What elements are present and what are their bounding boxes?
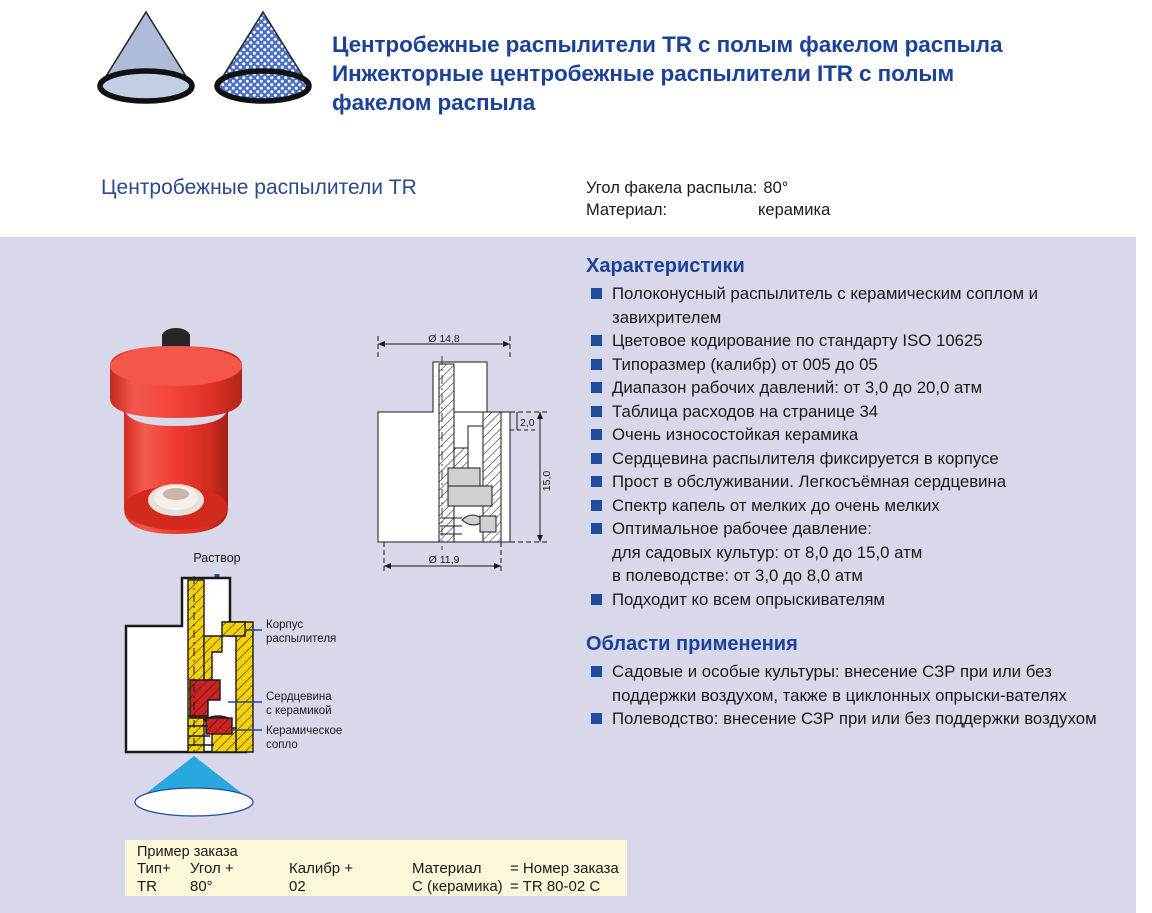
application-item-label: Садовые и особые культуры: внесение СЗР … <box>612 662 1067 705</box>
spray-pattern-icons <box>88 6 320 118</box>
bullet-square-icon <box>591 359 602 370</box>
hollow-cone-icon <box>100 12 192 101</box>
label-inlet: Раствор <box>193 551 240 565</box>
feature-item-label: Спектр капель от мелких до очень мелких <box>612 496 940 515</box>
feature-item-label: Цветовое кодирование по стандарту ISO 10… <box>612 331 983 350</box>
cutaway-diagram: Раствор Корпус распылите <box>110 540 390 840</box>
dim-outer-diameter: Ø 14,8 <box>428 333 460 345</box>
feature-item: Диапазон рабочих давлений: от 3,0 до 20,… <box>586 376 1106 400</box>
label-nozzle-line2: сопло <box>266 739 298 751</box>
order-col-angle-label: Угол + <box>190 860 234 878</box>
spray-angle-row: Угол факела распыла: 80° <box>586 177 830 199</box>
bullet-square-icon <box>591 476 602 487</box>
label-body-line1: Корпус <box>266 619 303 631</box>
order-col-number-label: = Номер заказа <box>510 860 619 878</box>
feature-item: Очень износостойкая керамика <box>586 423 1106 447</box>
application-item: Полеводство: внесение СЗР при или без по… <box>586 707 1106 731</box>
feature-item: Сердцевина распылителя фиксируется в кор… <box>586 447 1106 471</box>
applications-list: Садовые и особые культуры: внесение СЗР … <box>586 660 1106 731</box>
specifications-column: Характеристики Полоконусный распылитель … <box>586 253 1106 731</box>
bullet-square-icon <box>591 382 602 393</box>
label-body-line2: распылителя <box>266 633 336 645</box>
section-subtitle: Центробежные распылители TR <box>101 174 417 202</box>
bullet-square-icon <box>591 406 602 417</box>
order-col-number-value: = TR 80-02 С <box>510 878 600 896</box>
label-core-line2: с керамикой <box>266 705 332 717</box>
feature-item-label: Прост в обслуживании. Легкосъёмная сердц… <box>612 472 1006 491</box>
page-title: Центробежные распылители TR с полым факе… <box>332 30 1122 117</box>
order-col-material-value: С (керамика) <box>412 878 503 896</box>
feature-item-label: Типоразмер (калибр) от 005 до 05 <box>612 355 878 374</box>
title-line-1: Центробежные распылители TR с полым факе… <box>332 30 1122 59</box>
page-header: Центробежные распылители TR с полым факе… <box>0 0 1152 237</box>
feature-item: Полоконусный распылитель с керамическим … <box>586 282 1106 329</box>
clipped-bottom-text <box>108 903 508 913</box>
feature-item: Цветовое кодирование по стандарту ISO 10… <box>586 329 1106 353</box>
bullet-square-icon <box>591 453 602 464</box>
order-example-box: Пример заказа Тип+ Угол + Калибр + Матер… <box>125 840 627 896</box>
material-row: Материал: керамика <box>586 199 830 221</box>
order-col-type-value: TR <box>137 878 157 896</box>
bullet-square-icon <box>591 429 602 440</box>
order-col-type-label: Тип+ <box>137 860 171 878</box>
spec-summary: Угол факела распыла: 80° Материал: керам… <box>586 177 830 221</box>
spray-angle-value: 80° <box>763 177 788 199</box>
feature-item-label: Полоконусный распылитель с керамическим … <box>612 284 1038 327</box>
applications-heading: Области применения <box>586 631 1106 657</box>
speckled-cone-icon <box>217 12 309 101</box>
spray-angle-label: Угол факела распыла: <box>586 177 757 199</box>
bullet-square-icon <box>591 666 602 677</box>
bullet-square-icon <box>591 288 602 299</box>
feature-item-subline: в полеводстве: от 3,0 до 8,0 атм <box>612 564 1106 588</box>
feature-item-label: Оптимальное рабочее давление: <box>612 519 872 538</box>
feature-item-label: Подходит ко всем опрыскивателям <box>612 590 885 609</box>
technical-cross-section-drawing: Ø 14,8 Ø 11,9 15,0 2,0 <box>370 330 575 580</box>
order-col-material-label: Материал <box>412 860 482 878</box>
material-value: керамика <box>758 199 830 221</box>
feature-item: Спектр капель от мелких до очень мелких <box>586 494 1106 518</box>
bullet-square-icon <box>591 594 602 605</box>
bullet-square-icon <box>591 523 602 534</box>
title-line-2: Инжекторные центробежные распылители ITR… <box>332 59 1122 88</box>
label-core-line1: Сердцевина <box>266 691 332 703</box>
bullet-square-icon <box>591 335 602 346</box>
feature-item: Типоразмер (калибр) от 005 до 05 <box>586 353 1106 377</box>
order-col-size-label: Калибр + <box>289 860 353 878</box>
order-example-title: Пример заказа <box>137 843 238 861</box>
dim-flange: 2,0 <box>520 417 535 429</box>
application-item: Садовые и особые культуры: внесение СЗР … <box>586 660 1106 707</box>
feature-item-label: Диапазон рабочих давлений: от 3,0 до 20,… <box>612 378 982 397</box>
bullet-square-icon <box>591 713 602 724</box>
feature-item-label: Очень износостойкая керамика <box>612 425 858 444</box>
feature-item: Оптимальное рабочее давление:для садовых… <box>586 517 1106 588</box>
features-heading: Характеристики <box>586 253 1106 279</box>
order-col-angle-value: 80° <box>190 878 213 896</box>
label-nozzle-line1: Керамическое <box>266 725 342 737</box>
feature-item: Подходит ко всем опрыскивателям <box>586 588 1106 612</box>
feature-item: Таблица расходов на странице 34 <box>586 400 1106 424</box>
feature-item-subline: для садовых культур: от 8,0 до 15,0 атм <box>612 541 1106 565</box>
features-list: Полоконусный распылитель с керамическим … <box>586 282 1106 611</box>
order-col-size-value: 02 <box>289 878 306 896</box>
title-line-3: факелом распыла <box>332 88 1122 117</box>
material-label: Материал: <box>586 199 758 221</box>
application-item-label: Полеводство: внесение СЗР при или без по… <box>612 709 1097 728</box>
bullet-square-icon <box>591 500 602 511</box>
dim-inner-diameter: Ø 11,9 <box>429 554 460 566</box>
feature-item-label: Сердцевина распылителя фиксируется в кор… <box>612 449 999 468</box>
red-nozzle-photo <box>104 322 276 550</box>
feature-item-label: Таблица расходов на странице 34 <box>612 402 878 421</box>
feature-item: Прост в обслуживании. Легкосъёмная сердц… <box>586 470 1106 494</box>
dim-height: 15,0 <box>541 471 553 492</box>
